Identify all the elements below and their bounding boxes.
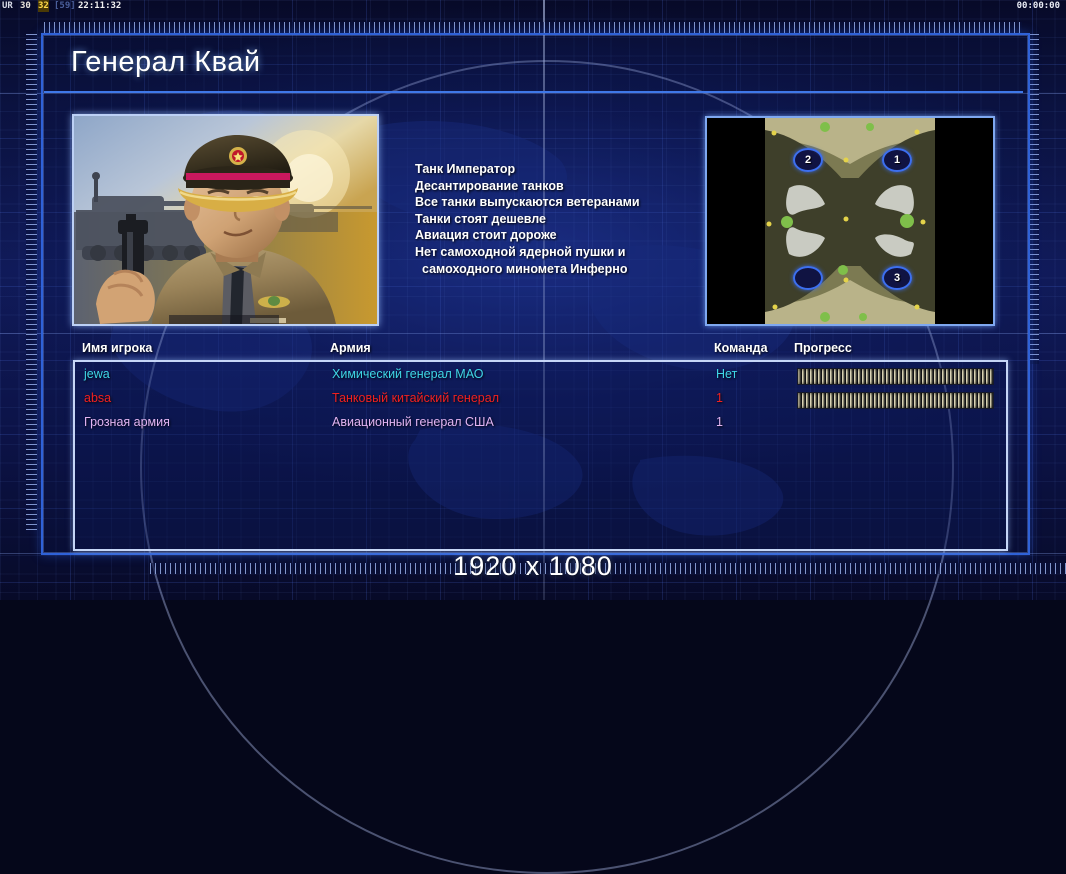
general-description: Танк Император Десантирование танков Все… — [415, 161, 695, 277]
status-value-2: 32 — [38, 0, 49, 12]
player-name: absa — [84, 391, 111, 405]
column-header-progress: Прогресс — [794, 341, 852, 355]
page-title: Генерал Квай — [71, 46, 261, 79]
map-image — [707, 118, 993, 324]
status-value-1: 30 — [20, 0, 31, 12]
desc-line-6: Нет самоходной ядерной пушки и — [415, 244, 695, 261]
player-progress-bar — [797, 368, 994, 385]
player-name: jewa — [84, 367, 110, 381]
player-team: 1 — [716, 391, 723, 405]
desc-line-2: Десантирование танков — [415, 178, 695, 195]
player-army: Танковый китайский генерал — [332, 391, 499, 405]
map-start-position[interactable] — [793, 266, 823, 290]
column-header-name: Имя игрока — [82, 341, 152, 355]
portrait-image — [74, 116, 377, 324]
ruler-left — [26, 34, 37, 534]
table-row[interactable]: jewa Химический генерал МАО Нет — [75, 365, 1006, 389]
map-start-position[interactable]: 2 — [793, 148, 823, 172]
start-position-label: 3 — [894, 272, 900, 284]
player-team: Нет — [716, 367, 737, 381]
desc-line-7: самоходного миномета Инферно — [415, 261, 695, 278]
player-name: Грозная армия — [84, 415, 170, 429]
resolution-overlay: 1920 x 1080 — [0, 551, 1066, 582]
top-status-bar: UR 30 32 [59] 22:11:32 00:00:00 — [0, 0, 1066, 12]
status-timer-right: 00:00:00 — [1017, 0, 1060, 12]
start-position-label: 1 — [894, 154, 900, 166]
table-row[interactable]: Грозная армия Авиационный генерал США 1 — [75, 413, 1006, 437]
desc-line-3: Все танки выпускаются ветеранами — [415, 194, 695, 211]
player-list: jewa Химический генерал МАО Нет absa Тан… — [73, 360, 1008, 551]
player-army: Химический генерал МАО — [332, 367, 483, 381]
player-army: Авиационный генерал США — [332, 415, 494, 429]
status-label: UR — [2, 0, 13, 12]
player-table-header: Имя игрока Армия Команда Прогресс — [82, 341, 997, 359]
column-header-army: Армия — [330, 341, 371, 355]
map-start-position[interactable]: 1 — [882, 148, 912, 172]
map-start-position[interactable]: 3 — [882, 266, 912, 290]
status-clock: 22:11:32 — [78, 0, 121, 12]
start-position-label: 2 — [805, 154, 811, 166]
desc-line-4: Танки стоят дешевле — [415, 211, 695, 228]
general-portrait — [72, 114, 379, 326]
player-progress-bar — [797, 392, 994, 409]
player-team: 1 — [716, 415, 723, 429]
table-row[interactable]: absa Танковый китайский генерал 1 — [75, 389, 1006, 413]
ruler-top — [44, 22, 1022, 33]
desc-line-1: Танк Император — [415, 161, 695, 178]
column-header-team: Команда — [714, 341, 768, 355]
status-bracket: [59] — [54, 0, 76, 12]
map-preview[interactable]: 2 1 3 — [705, 116, 995, 326]
desc-line-5: Авиация стоит дороже — [415, 227, 695, 244]
